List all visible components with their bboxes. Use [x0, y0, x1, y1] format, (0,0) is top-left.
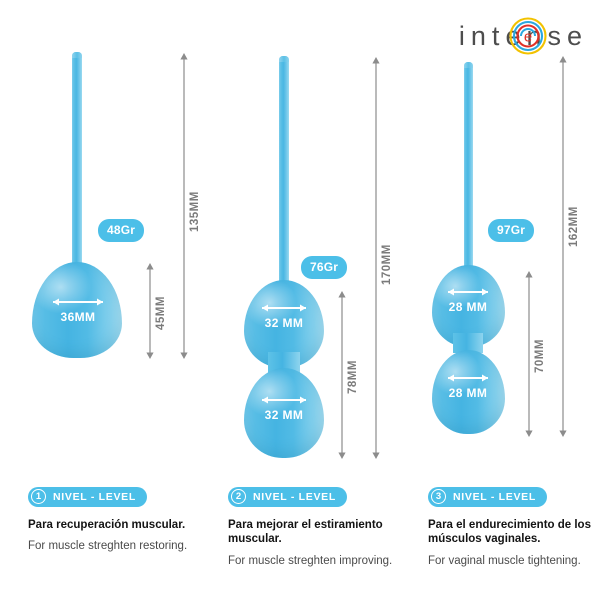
- product-1-total-dimension-label: 135MM: [189, 191, 201, 232]
- level-1-description-en: For muscle streghten restoring.: [28, 539, 213, 554]
- product-3-width-label-1: 28 MM: [428, 300, 508, 314]
- product-1-stem: [72, 52, 82, 267]
- product-3-total-dimension-label: 162MM: [568, 206, 580, 247]
- level-2-number: 2: [231, 489, 246, 504]
- product-3-width-label-2: 28 MM: [428, 386, 508, 400]
- product-2-body-dimension-label: 78MM: [347, 360, 359, 394]
- level-3-description-en: For vaginal muscle tightening.: [428, 554, 600, 569]
- level-block-1: 1 NIVEL - LEVEL Para recuperación muscul…: [28, 486, 213, 554]
- product-column-1: 36MM 48Gr 45MM 135MM: [0, 0, 205, 470]
- level-1-badge-label: NIVEL - LEVEL: [53, 491, 136, 503]
- level-1-description-es: Para recuperación muscular.: [28, 518, 213, 533]
- level-1-number: 1: [31, 489, 46, 504]
- level-2-badge: 2 NIVEL - LEVEL: [228, 487, 347, 507]
- product-1-body-dimension-label: 45MM: [155, 296, 167, 330]
- product-3-weight-badge: 97Gr: [488, 219, 534, 242]
- product-2-width-label-2: 32 MM: [244, 408, 324, 422]
- product-2-stem: [279, 56, 289, 286]
- product-1-weight-badge: 48Gr: [98, 219, 144, 242]
- level-1-badge: 1 NIVEL - LEVEL: [28, 487, 147, 507]
- level-3-badge: 3 NIVEL - LEVEL: [428, 487, 547, 507]
- product-2-weight-badge: 76Gr: [301, 256, 347, 279]
- level-3-number: 3: [431, 489, 446, 504]
- product-3-body-dimension-label: 70MM: [534, 339, 546, 373]
- product-column-2: 32 MM 32 MM 76Gr 78MM 170MM: [205, 0, 400, 470]
- level-block-3: 3 NIVEL - LEVEL Para el endurecimiento d…: [428, 486, 600, 569]
- infographic-page: intense e 36MM: [0, 0, 600, 600]
- product-3-stem: [464, 62, 473, 270]
- level-3-badge-label: NIVEL - LEVEL: [453, 491, 536, 503]
- level-3-description-es: Para el endurecimiento de los músculos v…: [428, 518, 600, 547]
- level-2-description-en: For muscle streghten improving.: [228, 554, 413, 569]
- product-1-width-label-1: 36MM: [38, 310, 118, 324]
- level-2-badge-label: NIVEL - LEVEL: [253, 491, 336, 503]
- product-column-3: 28 MM 28 MM 97Gr 70MM 162MM: [400, 0, 600, 470]
- level-2-description-es: Para mejorar el estiramiento muscular.: [228, 518, 413, 547]
- product-2-total-dimension-label: 170MM: [381, 244, 393, 285]
- product-2-width-label-1: 32 MM: [244, 316, 324, 330]
- level-block-2: 2 NIVEL - LEVEL Para mejorar el estirami…: [228, 486, 413, 569]
